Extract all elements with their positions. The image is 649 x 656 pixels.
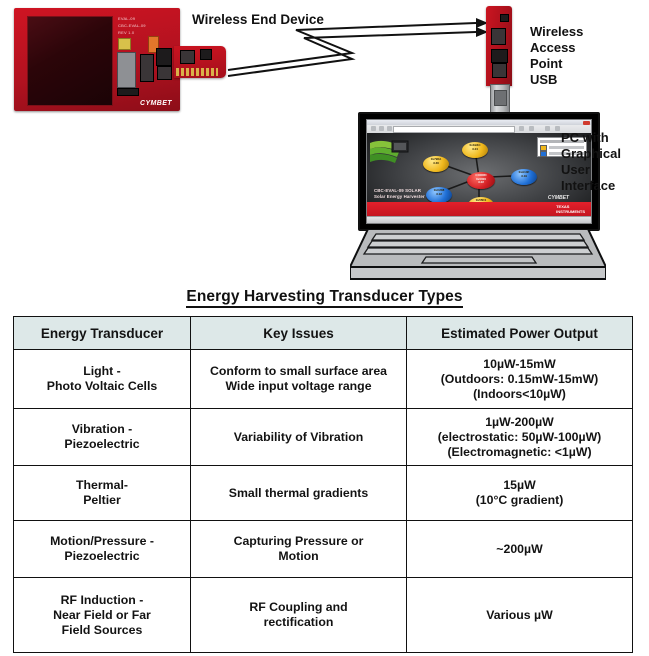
dongle-ic-1 [491, 28, 506, 45]
board-ic-2 [156, 48, 172, 66]
cell-power: 1µW-200µW (electrostatic: 50µW-100µW) (E… [407, 409, 633, 466]
energy-harvester-gui: COORD 0x0000 3.22 0x796A 3.30 0x1B4C 3.2… [367, 133, 591, 223]
dongle-ic-2 [491, 49, 508, 63]
radio-daughter-board [174, 46, 226, 78]
table-row: Motion/Pressure - Piezoelectric Capturin… [14, 521, 633, 578]
cell-transducer: Light - Photo Voltaic Cells [14, 350, 191, 409]
home-icon[interactable] [529, 126, 534, 131]
cell-issues: Capturing Pressure or Motion [191, 521, 407, 578]
board-ic-3 [157, 66, 172, 80]
cell-transducer: Thermal- Peltier [14, 466, 191, 521]
rf-link-arrow-icon [226, 18, 486, 80]
energy-harvesting-table: Energy Transducer Key Issues Estimated P… [13, 316, 633, 653]
cymbet-brand-gui: CYMBET [548, 195, 569, 201]
cell-issues: Variability of Vibration [191, 409, 407, 466]
board-capacitor-1 [118, 38, 131, 50]
table-row: Thermal- Peltier Small thermal gradients… [14, 466, 633, 521]
daughter-ic-1 [180, 50, 195, 64]
gui-node-coordinator-label: COORD 0x0000 3.22 [467, 174, 495, 185]
gui-node-3-label: 0xA13F 3.19 [511, 171, 537, 178]
board-silkscreen-1: EVAL-09 [118, 16, 135, 21]
browser-titlebar [367, 120, 591, 125]
daughter-ic-2 [200, 49, 212, 60]
gui-node-4[interactable]: 0xC208 3.12 [426, 187, 452, 203]
board-ic-1 [140, 54, 154, 82]
address-bar[interactable] [393, 126, 515, 133]
gui-node-coordinator[interactable]: COORD 0x0000 3.22 [467, 172, 495, 189]
gui-node-3[interactable]: 0xA13F 3.19 [511, 169, 537, 185]
gear-icon[interactable] [555, 126, 560, 131]
dongle-pcb [486, 6, 512, 86]
gui-node-4-label: 0xC208 3.12 [426, 189, 452, 196]
column-header-transducer: Energy Transducer [14, 317, 191, 350]
cymbet-brand-board: CYMBET [140, 100, 172, 107]
dongle-ic-3 [492, 63, 507, 78]
column-header-issues: Key Issues [191, 317, 407, 350]
board-silkscreen-2: CBC-EVAL-09 [118, 23, 146, 28]
back-icon[interactable] [371, 126, 376, 131]
cell-issues: RF Coupling and rectification [191, 578, 407, 653]
daughter-pin-header [176, 68, 218, 76]
gui-node-2[interactable]: 0x1B4C 3.24 [462, 142, 488, 158]
gui-node-1[interactable]: 0x796A 3.30 [423, 156, 449, 172]
table-header-row: Energy Transducer Key Issues Estimated P… [14, 317, 633, 350]
board-connector [117, 88, 139, 96]
dongle-ic-4 [500, 14, 509, 22]
laptop-base [350, 229, 606, 280]
gui-app-title: CBC-EVAL-09 SOLARSolar Energy Harvester [374, 188, 425, 199]
gui-app-title-line2: Solar Energy Harvester [374, 194, 425, 199]
ti-logo: TEXAS INSTRUMENTS [556, 205, 585, 214]
laptop-screen: COORD 0x0000 3.22 0x796A 3.30 0x1B4C 3.2… [366, 119, 592, 224]
gui-footer-banner: TEXAS INSTRUMENTS [367, 202, 591, 217]
cell-issues: Conform to small surface area Wide input… [191, 350, 407, 409]
cell-power: ~200µW [407, 521, 633, 578]
table-title-text: Energy Harvesting Transducer Types [186, 288, 462, 308]
forward-icon[interactable] [379, 126, 384, 131]
system-diagram: EVAL-09 CBC-EVAL-09 REV 1.0 CYMBET Wirel… [0, 0, 649, 285]
table-row: Vibration - Piezoelectric Variability of… [14, 409, 633, 466]
table-title: Energy Harvesting Transducer Types [0, 288, 649, 306]
gui-node-1-label: 0x796A 3.30 [423, 158, 449, 165]
cell-issues: Small thermal gradients [191, 466, 407, 521]
cell-transducer: RF Induction - Near Field or Far Field S… [14, 578, 191, 653]
gui-node-2-label: 0x1B4C 3.24 [462, 144, 488, 151]
cell-power: Various µW [407, 578, 633, 653]
table-row: Light - Photo Voltaic Cells Conform to s… [14, 350, 633, 409]
close-icon[interactable] [583, 121, 590, 125]
browser-chrome [367, 120, 591, 134]
cell-transducer: Motion/Pressure - Piezoelectric [14, 521, 191, 578]
board-substrate: EVAL-09 CBC-EVAL-09 REV 1.0 CYMBET [14, 8, 180, 111]
cell-power: 10µW-15mW (Outdoors: 0.15mW-15mW) (Indoo… [407, 350, 633, 409]
solar-cell [27, 16, 113, 106]
browser-statusbar [367, 216, 591, 223]
print-icon[interactable] [545, 126, 550, 131]
label-wireless-access-point: Wireless Access Point USB [530, 24, 583, 88]
table-row: RF Induction - Near Field or Far Field S… [14, 578, 633, 653]
cell-transducer: Vibration - Piezoelectric [14, 409, 191, 466]
cell-power: 15µW (10°C gradient) [407, 466, 633, 521]
gui-app-title-line1: CBC-EVAL-09 SOLAR [374, 188, 421, 193]
board-silkscreen-3: REV 1.0 [118, 30, 134, 35]
search-icon[interactable] [519, 126, 524, 131]
column-header-power: Estimated Power Output [407, 317, 633, 350]
reload-icon[interactable] [387, 126, 392, 131]
usb-access-point-dongle [484, 6, 514, 118]
label-pc-gui: PC with Graphical User Interface [561, 130, 621, 194]
board-supercap [117, 52, 136, 88]
